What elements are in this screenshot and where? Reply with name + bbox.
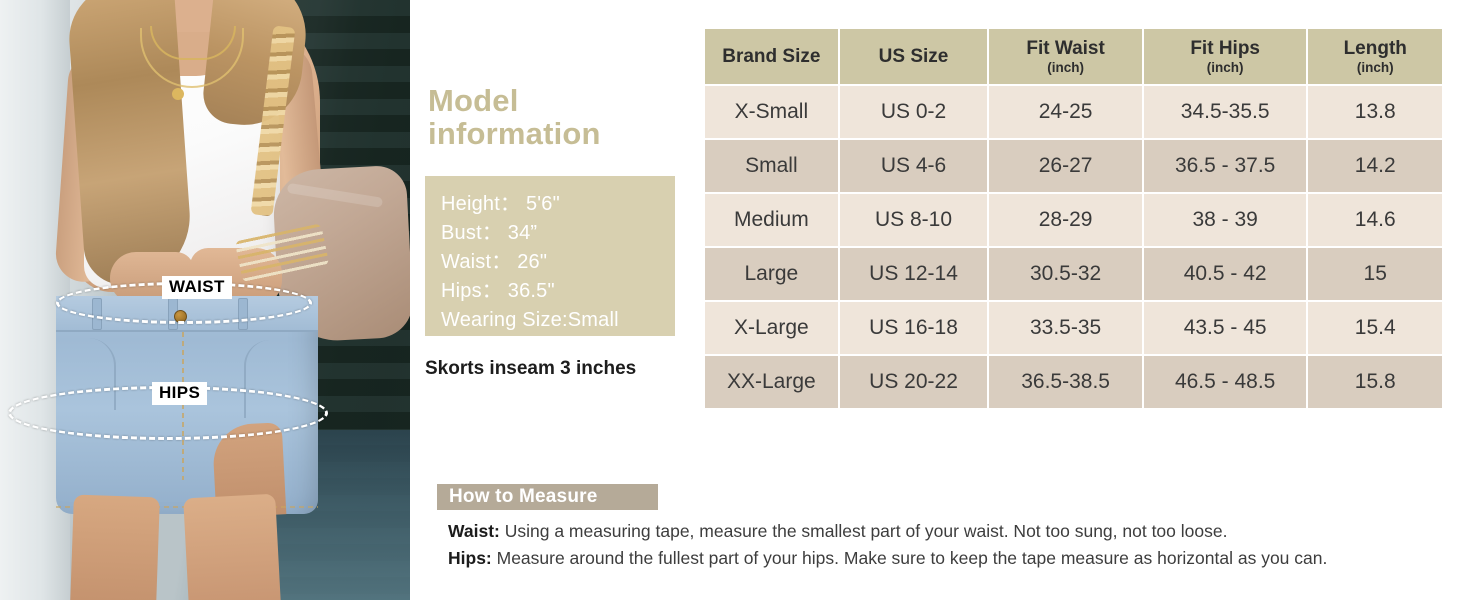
model-info-hips: Hips： 36.5" (441, 277, 675, 306)
how-to-measure-waist-line: Waist: Using a measuring tape, measure t… (448, 518, 1448, 545)
model-information-heading-line1: Model (428, 84, 690, 117)
cell-brand-size: X-Small (705, 86, 838, 138)
model-right-leg (183, 494, 281, 600)
model-information-box: Height： 5'6" Bust： 34” Waist： 26" Hips： … (425, 176, 675, 336)
cell-us-size: US 20-22 (840, 356, 988, 408)
cell-brand-size: Small (705, 140, 838, 192)
model-info-waist: Waist： 26" (441, 248, 675, 277)
cell-us-size: US 0-2 (840, 86, 988, 138)
model-information-heading: Model information (428, 84, 690, 151)
cell-brand-size: XX-Large (705, 356, 838, 408)
column-header-length-title: Length (1344, 38, 1407, 59)
table-row: XX-Large US 20-22 36.5-38.5 46.5 - 48.5 … (705, 356, 1442, 408)
column-header-fit-waist-unit: (inch) (993, 61, 1138, 76)
size-chart-table-body: X-Small US 0-2 24-25 34.5-35.5 13.8 Smal… (705, 86, 1442, 408)
cell-fit-waist: 24-25 (989, 86, 1142, 138)
model-left-leg (70, 495, 160, 600)
cell-us-size: US 12-14 (840, 248, 988, 300)
how-to-measure-instructions: Waist: Using a measuring tape, measure t… (448, 518, 1448, 571)
cell-fit-hips: 40.5 - 42 (1144, 248, 1307, 300)
cell-brand-size: Large (705, 248, 838, 300)
model-info-height: Height： 5'6" (441, 190, 675, 219)
size-chart-table-head: Brand Size US Size Fit Waist (inch) Fit … (705, 29, 1442, 84)
table-row: Medium US 8-10 28-29 38 - 39 14.6 (705, 194, 1442, 246)
how-to-measure-hips-label: Hips: (448, 548, 492, 568)
column-header-fit-hips-unit: (inch) (1148, 61, 1303, 76)
cell-length: 15 (1308, 248, 1442, 300)
how-to-measure-waist-text: Using a measuring tape, measure the smal… (500, 521, 1228, 541)
column-header-fit-waist: Fit Waist (inch) (989, 29, 1142, 84)
cell-fit-hips: 43.5 - 45 (1144, 302, 1307, 354)
how-to-measure-hips-text: Measure around the fullest part of your … (492, 548, 1328, 568)
size-chart-page: WAIST HIPS Model information Height： 5'6… (0, 0, 1464, 600)
cell-length: 15.4 (1308, 302, 1442, 354)
hips-measure-label: HIPS (152, 382, 207, 405)
cell-us-size: US 4-6 (840, 140, 988, 192)
model-info-bust: Bust： 34” (441, 219, 675, 248)
cell-length: 15.8 (1308, 356, 1442, 408)
column-header-us-size: US Size (840, 29, 988, 84)
cell-fit-waist: 26-27 (989, 140, 1142, 192)
skorts-inseam-note: Skorts inseam 3 inches (425, 358, 725, 380)
size-chart-table: Brand Size US Size Fit Waist (inch) Fit … (703, 27, 1444, 410)
cell-fit-waist: 30.5-32 (989, 248, 1142, 300)
column-header-fit-hips: Fit Hips (inch) (1144, 29, 1307, 84)
cell-length: 14.2 (1308, 140, 1442, 192)
cell-fit-hips: 38 - 39 (1144, 194, 1307, 246)
column-header-length-unit: (inch) (1312, 61, 1438, 76)
table-header-row: Brand Size US Size Fit Waist (inch) Fit … (705, 29, 1442, 84)
model-information-heading-line2: information (428, 117, 690, 150)
table-row: X-Large US 16-18 33.5-35 43.5 - 45 15.4 (705, 302, 1442, 354)
column-header-length: Length (inch) (1308, 29, 1442, 84)
cell-fit-hips: 36.5 - 37.5 (1144, 140, 1307, 192)
cell-length: 13.8 (1308, 86, 1442, 138)
column-header-fit-hips-title: Fit Hips (1190, 38, 1260, 59)
column-header-fit-waist-title: Fit Waist (1026, 38, 1104, 59)
column-header-brand-size: Brand Size (705, 29, 838, 84)
model-information-list: Height： 5'6" Bust： 34” Waist： 26" Hips： … (425, 176, 675, 335)
cell-fit-waist: 33.5-35 (989, 302, 1142, 354)
column-header-us-size-title: US Size (879, 46, 949, 67)
cell-fit-hips: 46.5 - 48.5 (1144, 356, 1307, 408)
cell-us-size: US 8-10 (840, 194, 988, 246)
table-row: Large US 12-14 30.5-32 40.5 - 42 15 (705, 248, 1442, 300)
waist-measure-label: WAIST (162, 276, 232, 299)
how-to-measure-banner-label: How to Measure (437, 486, 598, 508)
cell-fit-waist: 36.5-38.5 (989, 356, 1142, 408)
cell-fit-hips: 34.5-35.5 (1144, 86, 1307, 138)
how-to-measure-waist-label: Waist: (448, 521, 500, 541)
how-to-measure-banner: How to Measure (437, 484, 658, 510)
size-chart-table-wrapper: Brand Size US Size Fit Waist (inch) Fit … (703, 27, 1444, 410)
necklace-pendant (172, 88, 184, 100)
model-info-wearing-size: Wearing Size:Small (441, 306, 675, 335)
column-header-brand-size-title: Brand Size (722, 46, 820, 67)
cell-length: 14.6 (1308, 194, 1442, 246)
model-photo: WAIST HIPS (0, 0, 410, 600)
table-row: Small US 4-6 26-27 36.5 - 37.5 14.2 (705, 140, 1442, 192)
table-row: X-Small US 0-2 24-25 34.5-35.5 13.8 (705, 86, 1442, 138)
how-to-measure-hips-line: Hips: Measure around the fullest part of… (448, 545, 1448, 572)
cell-brand-size: X-Large (705, 302, 838, 354)
cell-brand-size: Medium (705, 194, 838, 246)
cell-fit-waist: 28-29 (989, 194, 1142, 246)
cell-us-size: US 16-18 (840, 302, 988, 354)
